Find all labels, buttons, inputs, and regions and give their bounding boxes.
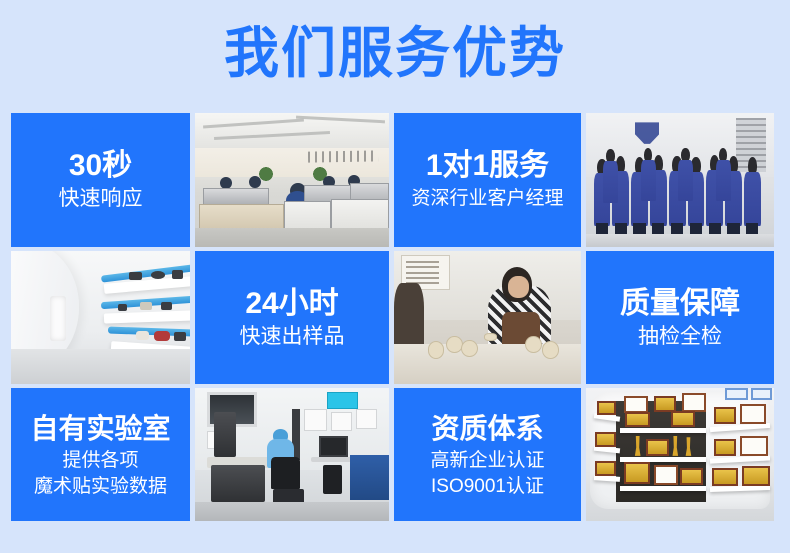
- blue-cabinet: [350, 455, 389, 500]
- laboratory-image: 实验室技术员在三坐标测量仪与拉力试验机旁作业: [195, 388, 389, 521]
- certificate: [682, 393, 706, 412]
- award-plaque: [714, 439, 737, 456]
- advantage-subtitle-2: ISO9001认证: [431, 474, 544, 500]
- award-plaque: [712, 468, 738, 487]
- team-member: [744, 157, 761, 225]
- shelf: [620, 486, 706, 491]
- wall-paper: [356, 409, 377, 429]
- showroom-floor: [11, 349, 190, 384]
- advantage-subtitle: 快速出样品: [240, 323, 345, 351]
- display-product: [174, 332, 187, 341]
- advantage-subtitle-2: 魔术贴实验数据: [34, 474, 167, 500]
- showroom-image: 产品展厅，白色弧形墙面与蓝色展示层板陈列样品: [11, 251, 190, 384]
- computer-monitor: [319, 436, 348, 457]
- advantage-card-qualification-system[interactable]: 资质体系 高新企业认证 ISO9001认证: [394, 388, 581, 521]
- award-plaque: [714, 407, 737, 424]
- shelf: [620, 428, 706, 433]
- team-member: [603, 149, 618, 203]
- award-plaque: [742, 466, 770, 486]
- advantage-title: 质量保障: [620, 285, 740, 323]
- cmm-arm: [214, 412, 235, 457]
- advantage-card-quality-assurance[interactable]: 质量保障 抽检全检: [586, 251, 774, 384]
- worker-face: [508, 276, 529, 297]
- certificates-image: 荣誉墙，陈列各类证书、奖牌与奖杯: [586, 388, 774, 521]
- advantage-title: 24小时: [245, 285, 338, 323]
- shelf: [620, 457, 706, 462]
- photo-office: 开放式办公区，员工在工位上办公，墙面有书法题字: [195, 113, 389, 247]
- advantage-card-own-laboratory[interactable]: 自有实验室 提供各项 魔术贴实验数据: [11, 388, 190, 521]
- photo-certificates: 荣誉墙，陈列各类证书、奖牌与奖杯: [586, 388, 774, 521]
- advantages-grid: 30秒 快速响应: [11, 113, 779, 521]
- photo-sample-making: 车间员工在工作台上制作魔术贴样品: [394, 251, 581, 384]
- award-plaque: [595, 432, 616, 447]
- employee-head: [249, 176, 261, 188]
- wall-paper: [331, 412, 352, 431]
- award-plaque: [680, 468, 703, 485]
- photo-showroom: 产品展厅，白色弧形墙面与蓝色展示层板陈列样品: [11, 251, 190, 384]
- award-plaque: [646, 439, 669, 456]
- wall-calligraphy: [307, 150, 377, 162]
- display-product: [161, 302, 172, 310]
- display-product: [151, 271, 165, 279]
- page-header: 我们服务优势: [0, 0, 790, 105]
- team-member: [678, 148, 693, 202]
- award-plaque: [595, 461, 616, 476]
- wall-niche: [50, 296, 66, 341]
- team-member: [641, 148, 656, 202]
- service-advantages-page: 我们服务优势 30秒 快速响应: [0, 0, 790, 553]
- display-product: [129, 272, 142, 280]
- display-product: [154, 331, 170, 342]
- advantage-subtitle: 快速响应: [59, 185, 143, 213]
- team-image: 公司团队合影，员工统一穿蓝色工作服: [586, 113, 774, 247]
- display-product: [140, 302, 153, 310]
- advantage-subtitle: 高新企业认证: [430, 448, 544, 474]
- advantage-card-one-to-one-service[interactable]: 1对1服务 资深行业客户经理: [394, 113, 581, 247]
- certificate: [740, 436, 768, 456]
- certificate: [654, 465, 678, 485]
- office-chair: [271, 457, 300, 489]
- computer-tower: [323, 465, 342, 494]
- certificate: [740, 404, 766, 424]
- award-plaque: [625, 412, 649, 427]
- advantage-title: 自有实验室: [30, 410, 170, 448]
- advantage-title: 1对1服务: [426, 147, 549, 185]
- lab-floor: [195, 502, 389, 521]
- award-plaque: [624, 462, 650, 483]
- product-roll: [525, 336, 542, 353]
- photo-team: 公司团队合影，员工统一穿蓝色工作服: [586, 113, 774, 247]
- wall-paper: [304, 409, 327, 430]
- blue-notice-board: [327, 392, 358, 409]
- sample-making-image: 车间员工在工作台上制作魔术贴样品: [394, 251, 581, 384]
- advantage-card-fast-response[interactable]: 30秒 快速响应: [11, 113, 190, 247]
- display-product: [172, 270, 183, 279]
- cmm-base: [211, 465, 265, 502]
- product-roll: [542, 341, 559, 358]
- advantage-subtitle: 提供各项: [62, 448, 138, 474]
- product-roll: [484, 333, 497, 341]
- award-plaque: [671, 411, 695, 427]
- display-shelf: [104, 311, 190, 324]
- team-floor: [586, 234, 774, 247]
- advantage-title: 资质体系: [431, 410, 543, 448]
- page-title: 我们服务优势: [224, 23, 566, 83]
- photo-laboratory: 实验室技术员在三坐标测量仪与拉力试验机旁作业: [195, 388, 389, 521]
- certificate: [624, 396, 648, 413]
- award-plaque: [654, 396, 677, 412]
- display-product: [118, 304, 127, 311]
- office-image: 开放式办公区，员工在工位上办公，墙面有书法题字: [195, 113, 389, 247]
- team-member: [716, 148, 731, 202]
- advantage-title: 30秒: [69, 147, 132, 185]
- product-roll: [428, 341, 445, 358]
- certificate: [725, 388, 748, 400]
- award-plaque: [597, 401, 616, 414]
- advantage-card-24h-sample[interactable]: 24小时 快速出样品: [195, 251, 389, 384]
- advantage-subtitle: 抽检全检: [638, 323, 722, 351]
- certificate: [751, 388, 772, 400]
- display-product: [136, 331, 149, 340]
- advantage-subtitle: 资深行业客户经理: [411, 185, 563, 213]
- office-floor: [195, 228, 389, 247]
